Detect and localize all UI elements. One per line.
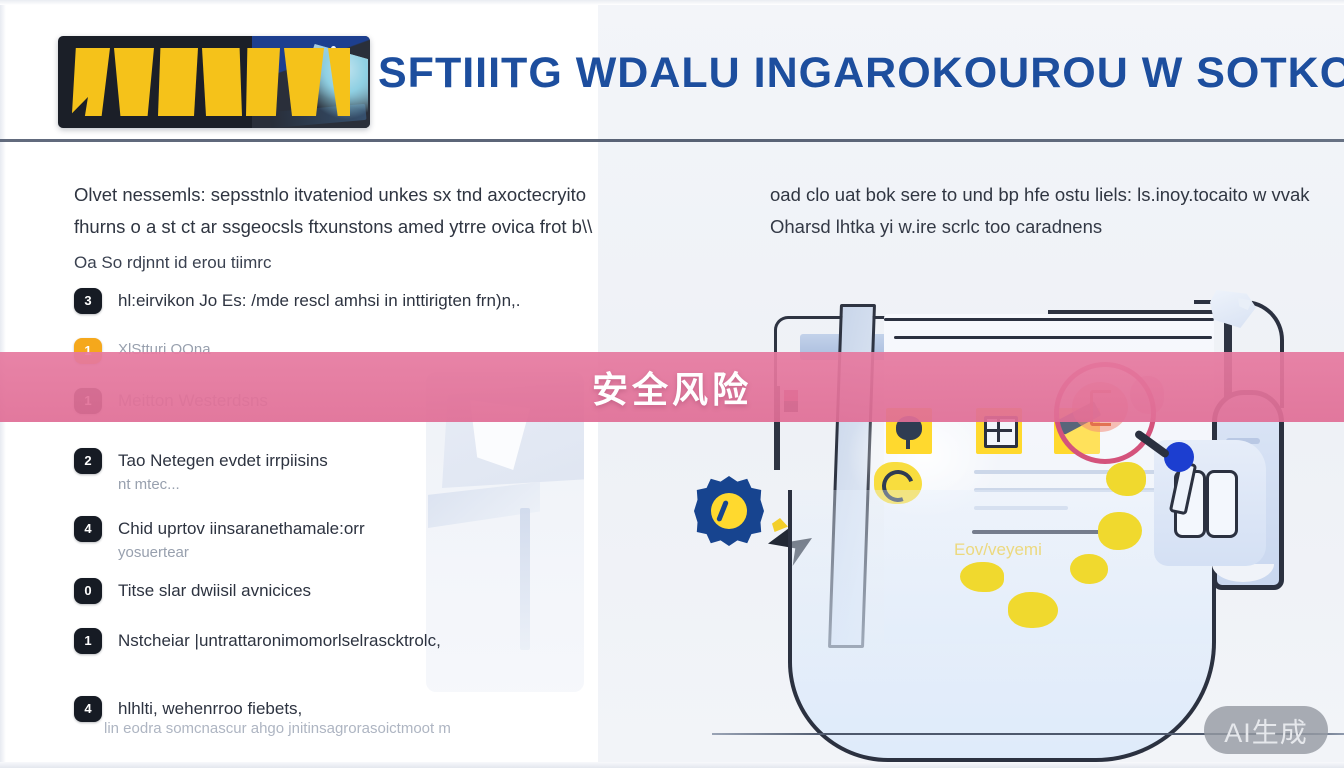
- list-item[interactable]: 3 hl:eirvikon Jo Es: /mde rescl amhsi in…: [74, 288, 594, 334]
- slide-header: SFTIIITG WDALU INGAROKOUROU W SOTKOT: [0, 0, 1344, 140]
- list-badge: 0: [74, 578, 102, 604]
- list-badge: 1: [74, 628, 102, 654]
- stylus-tip: [1164, 442, 1194, 472]
- list-badge: 2: [74, 448, 102, 474]
- list-item-text: Chid uprtov iinsaranethamale:orr: [118, 516, 594, 541]
- intro-paragraph-line-2: fhurns o a st ct ar ssgeocsls ftxunstons…: [74, 210, 592, 244]
- intro-paragraph-line-1: Olvet nessemls: sepsstnlo itvateniod unk…: [74, 178, 586, 212]
- basket-blob: [1008, 592, 1058, 628]
- page-title: SFTIIITG WDALU INGAROKOUROU W SOTKOT: [378, 40, 1278, 106]
- basket-blob: [1070, 554, 1108, 584]
- list-item[interactable]: 2 Tao Netegen evdet irrpiisins nt mtec..…: [74, 448, 594, 500]
- basket-label: Eov/veyemi: [954, 540, 1042, 560]
- basket-blob: [1106, 462, 1146, 496]
- gear-core: [711, 493, 747, 529]
- list-badge: 3: [74, 288, 102, 314]
- basket-blob: [1098, 512, 1142, 550]
- list-item-subtext: nt mtec...: [118, 473, 594, 496]
- list-badge: 4: [74, 696, 102, 722]
- basket-outline: [788, 490, 1216, 762]
- spark-icon: [772, 518, 788, 532]
- ai-generated-watermark: AI生成: [1204, 706, 1328, 754]
- list-item[interactable]: 4 Chid uprtov iinsaranethamale:orr yosue…: [74, 516, 594, 562]
- logo-glyph-2: [114, 48, 154, 116]
- warning-banner-label: 安全风险: [0, 352, 1344, 422]
- logo-glyph-4: [202, 48, 242, 116]
- list-item[interactable]: 1 Nstcheiar |untrattaronimomorlselrasckt…: [74, 628, 594, 670]
- brand-logo: [58, 36, 370, 128]
- list-badge: 4: [74, 516, 102, 542]
- list-item[interactable]: 0 Titse slar dwiisil avnicices: [74, 578, 594, 610]
- illustration: Eov/veyemi: [598, 140, 1344, 768]
- intro-paragraph-line-3: Oa So rdjnnt id erou tiimrc: [74, 246, 271, 280]
- list-item-text: hlhlti, wehenrroo fiebets,: [118, 696, 594, 721]
- logo-beam: [269, 104, 366, 128]
- logo-glyph-1: [72, 48, 110, 116]
- list-item-text: hl:eirvikon Jo Es: /mde rescl amhsi in i…: [118, 288, 594, 313]
- list-item-text: Tao Netegen evdet irrpiisins: [118, 448, 594, 473]
- slide-canvas: SFTIIITG WDALU INGAROKOUROU W SOTKOT Olv…: [0, 0, 1344, 768]
- gear-icon: [694, 476, 764, 546]
- footnote-text: lin eodra somcnascur ahgo jnitinsagroras…: [104, 720, 451, 737]
- logo-glyph-5: [246, 48, 280, 116]
- list-item-text: Titse slar dwiisil avnicices: [118, 578, 594, 603]
- logo-glyph-3: [158, 48, 198, 116]
- list-item-text: Nstcheiar |untrattaronimomorlselrascktro…: [118, 628, 594, 653]
- list-item-subtext: yosuertear: [118, 541, 594, 564]
- basket-blob: [960, 562, 1004, 592]
- hand-finger: [1206, 470, 1238, 538]
